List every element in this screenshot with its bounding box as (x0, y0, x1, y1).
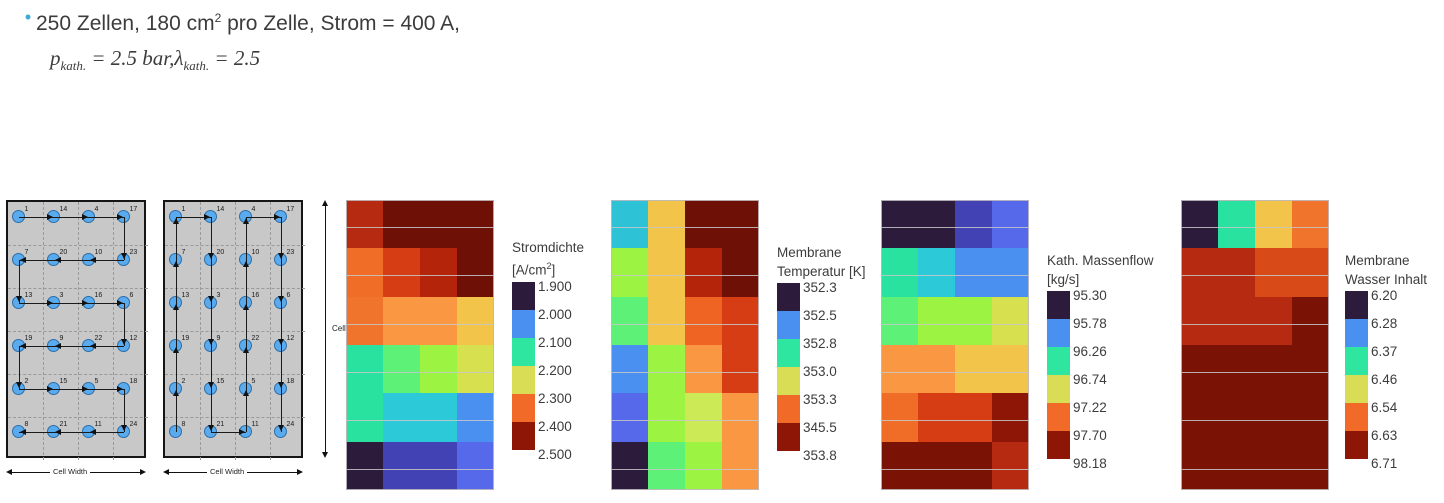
heatmap-cell (346, 420, 383, 441)
heatmap-cell (992, 420, 1029, 441)
heatmap-row (346, 200, 494, 248)
heatmap-cell (918, 227, 955, 248)
flow-node-label: 13 (25, 292, 33, 300)
grid-line-horizontal (165, 417, 305, 418)
legend-swatch (1345, 291, 1368, 319)
heatmap-cell (611, 200, 648, 227)
legend-tick-label: 352.8 (803, 337, 837, 351)
heatmap-cell (346, 324, 383, 345)
flow-node-label: 15 (60, 378, 68, 386)
legend-swatch (1047, 431, 1070, 459)
heatmap-cell (1292, 227, 1329, 248)
formula-lambda-subscript: kath. (184, 58, 210, 73)
legend-tick-label: 95.78 (1073, 317, 1107, 331)
flow-node-label: 19 (182, 335, 190, 343)
heatmap-cell (383, 248, 420, 275)
heatmap-cell (1218, 345, 1255, 372)
heatmap-band (1181, 200, 1329, 227)
legend-title-line-1: Membrane (777, 243, 866, 262)
legend-swatch (512, 310, 535, 338)
heatmap-cell (346, 297, 383, 324)
heatmap-band (881, 297, 1029, 324)
flow-node-label: 11 (95, 421, 102, 429)
heatmap-band (881, 442, 1029, 469)
heatmap-cell (992, 275, 1029, 296)
flow-arrowhead (274, 214, 280, 220)
legend-tick-label: 2.300 (538, 392, 572, 406)
heatmap-band (881, 393, 1029, 420)
legend-swatch (777, 339, 800, 367)
heatmap-cell (611, 420, 648, 441)
heatmap-cell (611, 372, 648, 393)
heatmap-cell (1292, 372, 1329, 393)
heatmap-cell (1255, 297, 1292, 324)
flow-arrowhead (173, 390, 179, 396)
flow-node-label: 9 (60, 335, 64, 343)
heatmap-band (346, 200, 494, 227)
heatmap-cell (457, 345, 494, 372)
heatmap-cell (420, 200, 457, 227)
bullet-line-1-pre: 250 Zellen, 180 cm (36, 12, 215, 35)
flow-arrowhead (173, 347, 179, 353)
heatmap-cell (1181, 469, 1218, 490)
flow-arrowhead (16, 382, 22, 388)
flow-node-label: 24 (287, 421, 295, 429)
heatmap-cell (1292, 297, 1329, 324)
heatmap-band (611, 275, 759, 296)
heatmap-cell (1218, 420, 1255, 441)
flow-node-label: 22 (252, 335, 260, 343)
heatmap-cell (881, 200, 918, 227)
heatmap-cell (918, 275, 955, 296)
heatmap-row-separator (346, 227, 494, 228)
heatmap-row (881, 248, 1029, 296)
heatmap-band (881, 469, 1029, 490)
heatmap-row-separator (1181, 420, 1329, 421)
heatmap-band (346, 248, 494, 275)
heatmap-cell (1218, 324, 1255, 345)
flow-arrowhead (121, 339, 127, 345)
legend-stromdichte: Stromdichte[A/cm2]1.9002.0002.1002.2002.… (512, 238, 584, 464)
heatmap-cell (346, 469, 383, 490)
heatmap-cell (722, 393, 759, 420)
heatmap-cell (881, 248, 918, 275)
legend-swatch (512, 366, 535, 394)
heatmap-cell (611, 248, 648, 275)
heatmap-cell (383, 442, 420, 469)
heatmap-cell (722, 275, 759, 296)
flow-node-label: 21 (217, 421, 225, 429)
heatmap-cell (1181, 393, 1218, 420)
heatmap-band (611, 420, 759, 441)
heatmap-row-separator (881, 227, 1029, 228)
heatmap-cell (918, 324, 955, 345)
heatmap-cell (346, 393, 383, 420)
heatmap-band (881, 372, 1029, 393)
bullet-text-block: • 250 Zellen, 180 cm2 pro Zelle, Strom =… (20, 4, 720, 80)
heatmap-cell (1181, 420, 1218, 441)
legend-title-line-1: Kath. Massenflow (1047, 251, 1154, 270)
heatmap-cell (383, 420, 420, 441)
flow-arrowhead (121, 425, 127, 431)
heatmap-cell (722, 345, 759, 372)
heatmap-cell (992, 248, 1029, 275)
heatmap-band (346, 324, 494, 345)
heatmap-band (881, 420, 1029, 441)
heatmap-cell (685, 372, 722, 393)
heatmap-cell (346, 275, 383, 296)
heatmap-cell (1181, 345, 1218, 372)
heatmap-cell (722, 248, 759, 275)
heatmap-row (881, 345, 1029, 393)
heatmap-cell (346, 248, 383, 275)
heatmap-cell (722, 469, 759, 490)
legend-title-line-2: Temperatur [K] (777, 262, 866, 281)
heatmap-cell (1255, 227, 1292, 248)
heatmap-cell (955, 248, 992, 275)
heatmap-cell (420, 345, 457, 372)
legend-swatch (1047, 347, 1070, 375)
heatmap-band (1181, 372, 1329, 393)
flow-arrowhead (208, 253, 214, 259)
heatmap-cell (648, 324, 685, 345)
heatmap-band (1181, 324, 1329, 345)
heatmap-row (1181, 200, 1329, 248)
heatmap-cell (648, 420, 685, 441)
heatmap-cell (685, 248, 722, 275)
heatmap-cell (722, 442, 759, 469)
flow-node-label: 19 (25, 335, 33, 343)
flow-arrowhead (278, 339, 284, 345)
cell-width-arrow-right (297, 469, 303, 475)
heatmap-cell (1218, 393, 1255, 420)
flow-node-label: 23 (287, 249, 295, 257)
flow-node-label: 3 (217, 292, 221, 300)
heatmap-cell (955, 420, 992, 441)
heatmap-cell (383, 469, 420, 490)
heatmap-cell (1218, 248, 1255, 275)
heatmap-cell (1255, 324, 1292, 345)
heatmap-cell (881, 275, 918, 296)
flow-arrowhead (20, 257, 26, 263)
heatmap-cell (881, 227, 918, 248)
flow-arrowhead (55, 343, 61, 349)
heatmap-cell (346, 200, 383, 227)
heatmap-cell (918, 248, 955, 275)
heatmap-cell (457, 393, 494, 420)
heatmap-band (611, 297, 759, 324)
heatmap-cell (611, 345, 648, 372)
flow-arrowhead (278, 253, 284, 259)
legend-swatch (512, 422, 535, 450)
legend-swatch (777, 367, 800, 395)
heatmap-cell (881, 372, 918, 393)
heatmap-cell (881, 324, 918, 345)
heatmap-cell (611, 227, 648, 248)
legend-unit-post: ] (552, 263, 556, 278)
heatmap-cell (383, 297, 420, 324)
heatmap-cell (955, 297, 992, 324)
heatmap-band (346, 372, 494, 393)
heatmap-row (611, 248, 759, 296)
heatmap-cell (648, 297, 685, 324)
heatmap-cell (420, 393, 457, 420)
cell-width-label: Cell Width (207, 467, 247, 476)
heatmap-band (611, 200, 759, 227)
grid-line-horizontal (165, 374, 305, 375)
heatmap-cell (992, 324, 1029, 345)
legend-membrane-wasser-inhalt: MembraneWasser Inhalt6.206.286.376.466.5… (1345, 251, 1427, 473)
heatmap-cell (1255, 248, 1292, 275)
flow-node-label: 17 (287, 206, 295, 214)
legend-tick-label: 97.22 (1073, 401, 1107, 415)
heatmap-cell (918, 297, 955, 324)
heatmap-cell (992, 227, 1029, 248)
legend-tick-label: 353.3 (803, 393, 837, 407)
legend-swatch (1047, 319, 1070, 347)
heatmap-cell (1218, 442, 1255, 469)
grid-line-horizontal (8, 331, 148, 332)
flow-arrowhead (82, 386, 88, 392)
flow-arrowhead (90, 343, 96, 349)
heatmap-cell (722, 227, 759, 248)
cell-height-arrow-down (322, 452, 328, 458)
legend-title-line-2: [kg/s] (1047, 270, 1154, 289)
heatmap-cell (881, 297, 918, 324)
heatmap-cell (881, 442, 918, 469)
grid-line-horizontal (8, 245, 148, 246)
heatmap-cell (1255, 200, 1292, 227)
heatmap-cell (1292, 345, 1329, 372)
heatmap-cell (420, 442, 457, 469)
heatmap-band (611, 372, 759, 393)
heatmap-cell (648, 200, 685, 227)
legend-swatch (1345, 347, 1368, 375)
heatmap-cell (1218, 297, 1255, 324)
heatmap-band (881, 200, 1029, 227)
heatmap-cell (383, 275, 420, 296)
heatmap-row (611, 442, 759, 490)
legend-tick-label: 6.71 (1371, 457, 1397, 471)
heatmap-band (1181, 227, 1329, 248)
legend-tick-label: 352.5 (803, 309, 837, 323)
heatmap-cell (881, 420, 918, 441)
formula-end: = 2.5 (209, 46, 260, 70)
heatmap-row (881, 393, 1029, 441)
heatmap-cell (346, 372, 383, 393)
heatmap-cell (457, 324, 494, 345)
heatmap-band (346, 345, 494, 372)
heatmap-cell (1255, 372, 1292, 393)
heatmap-cell (611, 275, 648, 296)
heatmap-row-separator (611, 324, 759, 325)
heatmap-band (881, 324, 1029, 345)
heatmap-band (881, 248, 1029, 275)
heatmap-cell (992, 345, 1029, 372)
cell-width-label: Cell Width (50, 467, 90, 476)
legend-tick-label: 2.200 (538, 364, 572, 378)
heatmap-row-separator (346, 275, 494, 276)
flow-arrowhead (278, 382, 284, 388)
heatmap-band (881, 345, 1029, 372)
flow-arrowhead (82, 214, 88, 220)
legend-color-strip (777, 283, 800, 451)
heatmap-cell (685, 200, 722, 227)
cell-width-arrow-left (6, 469, 12, 475)
heatmap-band (611, 345, 759, 372)
legend-color-strip (1047, 291, 1070, 459)
flow-arrowhead (173, 218, 179, 224)
heatmap-cell (457, 420, 494, 441)
grid-line-horizontal (165, 288, 305, 289)
heatmap-cell (1255, 275, 1292, 296)
legend-tick-label: 96.74 (1073, 373, 1107, 387)
heatmap-band (1181, 393, 1329, 420)
cell-height-dimension-line (325, 204, 326, 454)
heatmap-cell (955, 372, 992, 393)
flow-node-label: 2 (25, 378, 29, 386)
flow-arrowhead (47, 386, 53, 392)
legend-swatch (1047, 291, 1070, 319)
flow-node-label: 4 (95, 206, 99, 214)
legend-swatch (512, 338, 535, 366)
flow-node-label: 22 (95, 335, 103, 343)
flow-node-label: 18 (130, 378, 138, 386)
cell-height-arrow-up (322, 200, 328, 206)
heatmap-cell (1255, 469, 1292, 490)
heatmap-cell (955, 227, 992, 248)
legend-tick-label: 6.54 (1371, 401, 1397, 415)
flow-node-label: 16 (252, 292, 260, 300)
legend-body: 1.9002.0002.1002.2002.3002.4002.500 (512, 282, 584, 464)
heatmap-cell (992, 372, 1029, 393)
legend-swatch (777, 311, 800, 339)
heatmap-cell (420, 324, 457, 345)
heatmap-row (346, 248, 494, 296)
heatmap-band (1181, 248, 1329, 275)
legend-tick-label: 6.20 (1371, 289, 1397, 303)
flow-arrowhead (243, 347, 249, 353)
heatmap-cell (420, 420, 457, 441)
heatmap-cell (457, 227, 494, 248)
heatmap-cell (1181, 372, 1218, 393)
heatmap-cell (1181, 442, 1218, 469)
flow-node-label: 10 (252, 249, 260, 257)
heatmap-cell (383, 227, 420, 248)
heatmap-row (1181, 393, 1329, 441)
legend-swatch (777, 423, 800, 451)
grid-line-horizontal (8, 288, 148, 289)
heatmap-cell (1181, 275, 1218, 296)
flow-node-label: 21 (60, 421, 68, 429)
heatmap-cell (1292, 469, 1329, 490)
legend-swatch (1345, 319, 1368, 347)
legend-tick-label: 95.30 (1073, 289, 1107, 303)
heatmap-cell (918, 442, 955, 469)
flow-field-horizontal-serpentine: 171319281420391521410162251117236121824C… (6, 200, 146, 488)
flow-arrowhead (90, 429, 96, 435)
bullet-line-1: • 250 Zellen, 180 cm2 pro Zelle, Strom =… (20, 4, 720, 38)
heatmap-row (881, 297, 1029, 345)
heatmap-cell (1255, 345, 1292, 372)
heatmap-cell (648, 469, 685, 490)
flow-arrowhead (208, 382, 214, 388)
heatmap-cell (918, 345, 955, 372)
legend-body: 352.3352.5352.8353.0353.3345.5353.8 (777, 283, 866, 465)
legend-title-line-2: Wasser Inhalt (1345, 270, 1427, 289)
legend-color-strip (1345, 291, 1368, 459)
legend-tick-label: 2.000 (538, 308, 572, 322)
legend-title-line-2: [A/cm2] (512, 257, 584, 280)
heatmap-cell (457, 469, 494, 490)
flow-node-label: 12 (130, 335, 138, 343)
heatmap-cell (611, 324, 648, 345)
heatmap-band (1181, 297, 1329, 324)
heatmap-row-separator (881, 324, 1029, 325)
flow-arrowhead (20, 429, 26, 435)
flow-arrowhead (173, 261, 179, 267)
legend-tick-label: 97.70 (1073, 429, 1107, 443)
flow-arrowhead (90, 257, 96, 263)
heatmap-cell (1292, 275, 1329, 296)
legend-tick-label: 2.100 (538, 336, 572, 350)
heatmap-row (1181, 248, 1329, 296)
legend-title-line-1: Membrane (1345, 251, 1427, 270)
heatmap-band (611, 442, 759, 469)
heatmap-cell (346, 442, 383, 469)
heatmap-cell (420, 469, 457, 490)
flow-field-horizontal-serpentine-box: 171319281420391521410162251117236121824 (6, 200, 146, 458)
flow-node-label: 11 (252, 421, 259, 429)
legend-tick-label: 2.500 (538, 448, 572, 462)
heatmap-cell (918, 420, 955, 441)
heatmap-band (346, 297, 494, 324)
heatmap-cell (1218, 275, 1255, 296)
heatmap-cell (1218, 200, 1255, 227)
heatmap-cell (457, 275, 494, 296)
legend-tick-label: 345.5 (803, 421, 837, 435)
heatmap-cell (1255, 420, 1292, 441)
heatmap-cell (457, 200, 494, 227)
heatmap-band (611, 248, 759, 275)
heatmap-cell (685, 469, 722, 490)
legend-tick-label: 6.63 (1371, 429, 1397, 443)
heatmap-row-separator (1181, 372, 1329, 373)
legend-tick-label: 2.400 (538, 420, 572, 434)
heatmap-cell (611, 469, 648, 490)
flow-arrowhead (117, 214, 123, 220)
flow-node-label: 6 (287, 292, 291, 300)
heatmap-cell (383, 345, 420, 372)
bullet-line-1-post: pro Zelle, Strom = 400 A, (221, 12, 460, 35)
flow-node-label: 5 (252, 378, 256, 386)
heatmap-band (1181, 442, 1329, 469)
flow-node-label: 14 (217, 206, 225, 214)
heatmap-cell (1292, 200, 1329, 227)
legend-swatch (1345, 403, 1368, 431)
heatmap-cell (1181, 324, 1218, 345)
grid-line-horizontal (165, 245, 305, 246)
flow-node-label: 13 (182, 292, 190, 300)
flow-node-label: 14 (60, 206, 68, 214)
legend-swatch (1345, 375, 1368, 403)
heatmap-band (611, 227, 759, 248)
heatmap-cell (1255, 442, 1292, 469)
flow-arrowhead (16, 296, 22, 302)
heatmap-row (1181, 297, 1329, 345)
heatmap-cell (648, 227, 685, 248)
flow-node-label: 5 (95, 378, 99, 386)
